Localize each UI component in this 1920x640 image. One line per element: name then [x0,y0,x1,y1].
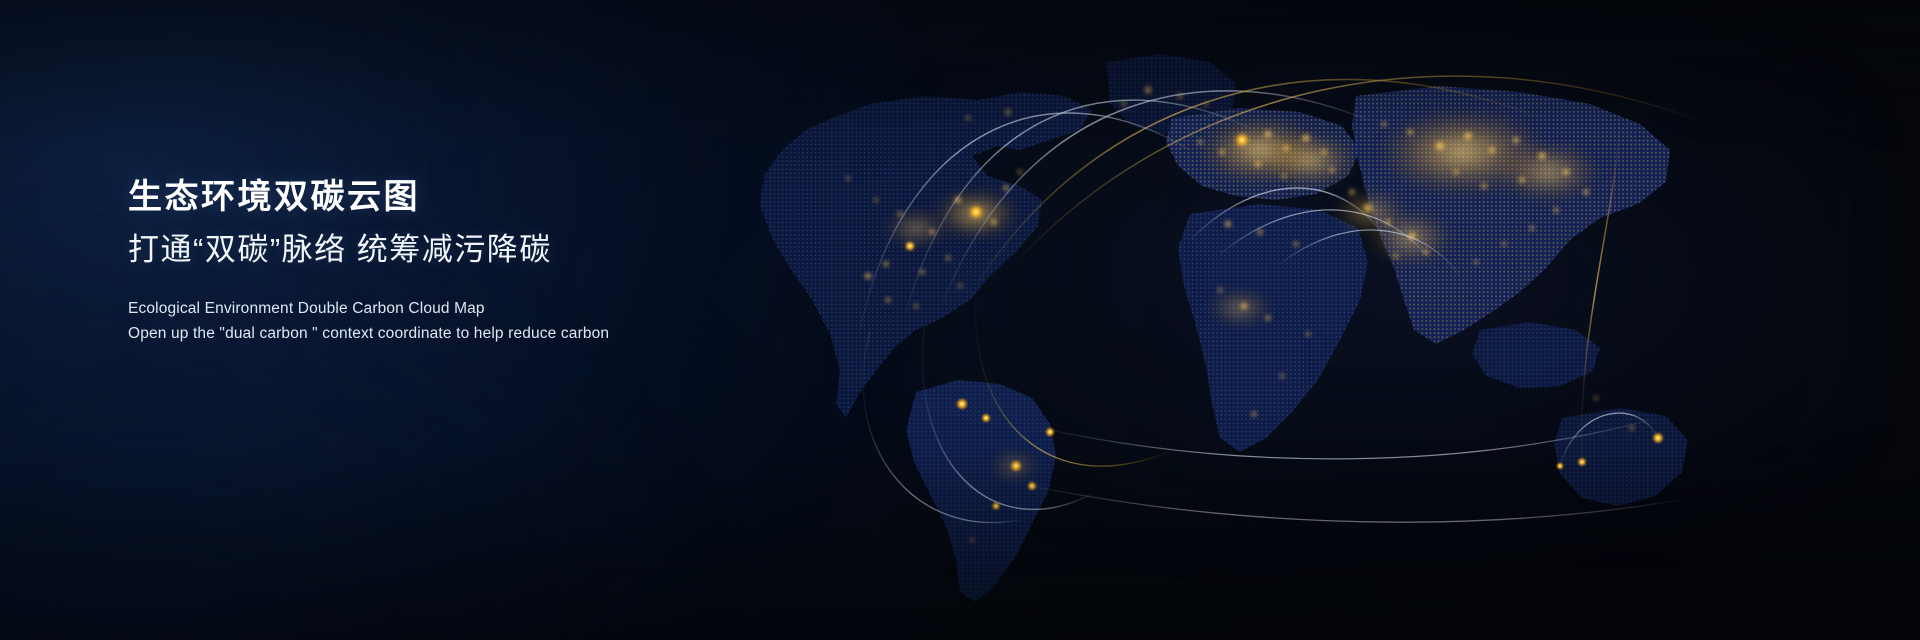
description-line-1: Ecological Environment Double Carbon Clo… [128,296,848,321]
description-line-2: Open up the "dual carbon " context coord… [128,321,848,346]
description-english: Ecological Environment Double Carbon Clo… [128,296,848,346]
banner-text-block: 生态环境双碳云图 打通“双碳”脉络 统筹减污降碳 Ecological Envi… [128,176,848,346]
page-title: 生态环境双碳云图 [128,176,848,220]
hero-banner: 生态环境双碳云图 打通“双碳”脉络 统筹减污降碳 Ecological Envi… [0,0,1920,640]
page-subtitle: 打通“双碳”脉络 统筹减污降碳 [128,230,848,270]
